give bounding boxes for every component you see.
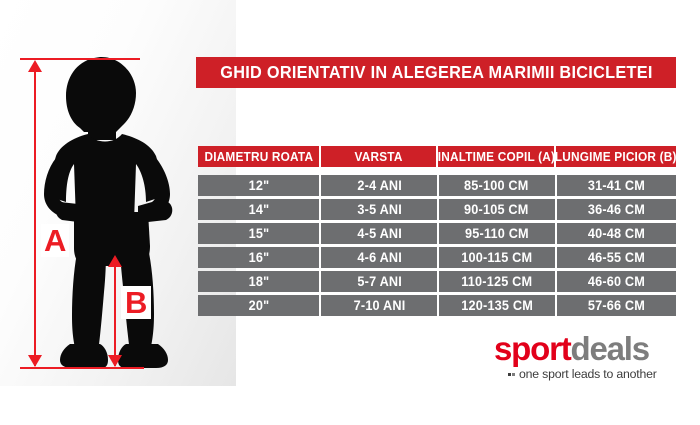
table-row: 20" 7-10 ANI 120-135 CM 57-66 CM <box>198 295 676 316</box>
cell-leg-length: 31-41 CM <box>557 175 677 196</box>
cell-value: 14" <box>248 202 269 217</box>
cell-height: 95-110 CM <box>439 223 555 244</box>
table-header-row: DIAMETRU ROATA VARSTA INALTIME COPIL (A)… <box>198 146 676 167</box>
table-row: 18" 5-7 ANI 110-125 CM 46-60 CM <box>198 271 676 292</box>
cell-value: 7-10 ANI <box>353 298 405 313</box>
cell-wheel-diameter: 20" <box>198 295 319 316</box>
table-row: 14" 3-5 ANI 90-105 CM 36-46 CM <box>198 199 676 220</box>
logo-tagline-row: one sport leads to another <box>508 367 676 381</box>
cell-value: 95-110 CM <box>465 226 529 241</box>
cell-age: 5-7 ANI <box>321 271 437 292</box>
cell-height: 100-115 CM <box>439 247 555 268</box>
cell-value: 110-125 CM <box>461 274 532 289</box>
cell-value: 4-5 ANI <box>357 226 402 241</box>
cell-leg-length: 46-60 CM <box>557 271 677 292</box>
cell-age: 3-5 ANI <box>321 199 437 220</box>
cell-value: 85-100 CM <box>465 178 529 193</box>
cell-value: 46-60 CM <box>588 274 645 289</box>
logo-word-deals: deals <box>571 330 649 367</box>
cell-value: 5-7 ANI <box>357 274 402 289</box>
measure-a-label: A <box>41 224 69 257</box>
bullet-square-icon <box>512 373 515 376</box>
cell-leg-length: 40-48 CM <box>557 223 677 244</box>
cell-value: 18" <box>248 274 269 289</box>
cell-age: 4-5 ANI <box>321 223 437 244</box>
size-guide-page: A B GHID ORIENTATIV IN ALEGEREA MARIMII … <box>0 0 700 425</box>
cell-wheel-diameter: 16" <box>198 247 319 268</box>
table-header-label: INALTIME COPIL (A) <box>437 150 554 164</box>
cell-value: 40-48 CM <box>588 226 645 241</box>
measure-b-arrow-down-icon <box>108 355 122 367</box>
cell-height: 110-125 CM <box>439 271 555 292</box>
logo-tagline: one sport leads to another <box>519 367 657 381</box>
cell-value: 36-46 CM <box>588 202 645 217</box>
table-row: 12" 2-4 ANI 85-100 CM 31-41 CM <box>198 175 676 196</box>
cell-height: 120-135 CM <box>439 295 555 316</box>
brand-logo: sportdeals one sport leads to another <box>494 332 676 378</box>
table-row: 16" 4-6 ANI 100-115 CM 46-55 CM <box>198 247 676 268</box>
cell-value: 15" <box>248 226 269 241</box>
cell-wheel-diameter: 15" <box>198 223 319 244</box>
measure-b-shaft <box>114 258 116 366</box>
cell-value: 12" <box>248 178 269 193</box>
cell-value: 20" <box>248 298 269 313</box>
cell-value: 90-105 CM <box>465 202 529 217</box>
cell-leg-length: 46-55 CM <box>557 247 677 268</box>
cell-value: 31-41 CM <box>588 178 645 193</box>
cell-height: 85-100 CM <box>439 175 555 196</box>
table-header-label: LUNGIME PICIOR (B) <box>555 150 677 164</box>
cell-value: 57-66 CM <box>588 298 645 313</box>
cell-value: 16" <box>248 250 269 265</box>
table-header-inaltime-copil: INALTIME COPIL (A) <box>438 146 554 167</box>
logo-wordmark: sportdeals <box>494 332 676 365</box>
table-row: 15" 4-5 ANI 95-110 CM 40-48 CM <box>198 223 676 244</box>
cell-wheel-diameter: 18" <box>198 271 319 292</box>
table-header-lungime-picior: LUNGIME PICIOR (B) <box>556 146 676 167</box>
cell-age: 4-6 ANI <box>321 247 437 268</box>
cell-leg-length: 36-46 CM <box>557 199 677 220</box>
measure-a-shaft <box>34 62 36 366</box>
cell-value: 46-55 CM <box>588 250 645 265</box>
cell-wheel-diameter: 14" <box>198 199 319 220</box>
cell-value: 2-4 ANI <box>357 178 402 193</box>
logo-word-sport: sport <box>494 330 571 367</box>
table-header-label: VARSTA <box>354 150 402 164</box>
measure-a-arrow-up-icon <box>28 60 42 72</box>
measure-b-label: B <box>121 286 151 319</box>
bullet-square-icon <box>508 373 511 376</box>
table-header-varsta: VARSTA <box>321 146 436 167</box>
cell-age: 2-4 ANI <box>321 175 437 196</box>
measure-baseline <box>20 367 144 369</box>
cell-wheel-diameter: 12" <box>198 175 319 196</box>
cell-value: 4-6 ANI <box>357 250 402 265</box>
measure-b-arrow-up-icon <box>108 255 122 267</box>
cell-age: 7-10 ANI <box>321 295 437 316</box>
table-header-diametru-roata: DIAMETRU ROATA <box>198 146 319 167</box>
bike-size-table: DIAMETRU ROATA VARSTA INALTIME COPIL (A)… <box>198 146 676 319</box>
cell-leg-length: 57-66 CM <box>557 295 677 316</box>
measure-a-arrow-down-icon <box>28 355 42 367</box>
table-header-label: DIAMETRU ROATA <box>204 150 313 164</box>
cell-value: 120-135 CM <box>461 298 533 313</box>
page-title: GHID ORIENTATIV IN ALEGEREA MARIMII BICI… <box>220 62 652 83</box>
cell-value: 3-5 ANI <box>357 202 402 217</box>
cell-value: 100-115 CM <box>461 250 532 265</box>
cell-height: 90-105 CM <box>439 199 555 220</box>
title-banner: GHID ORIENTATIV IN ALEGEREA MARIMII BICI… <box>196 57 676 88</box>
